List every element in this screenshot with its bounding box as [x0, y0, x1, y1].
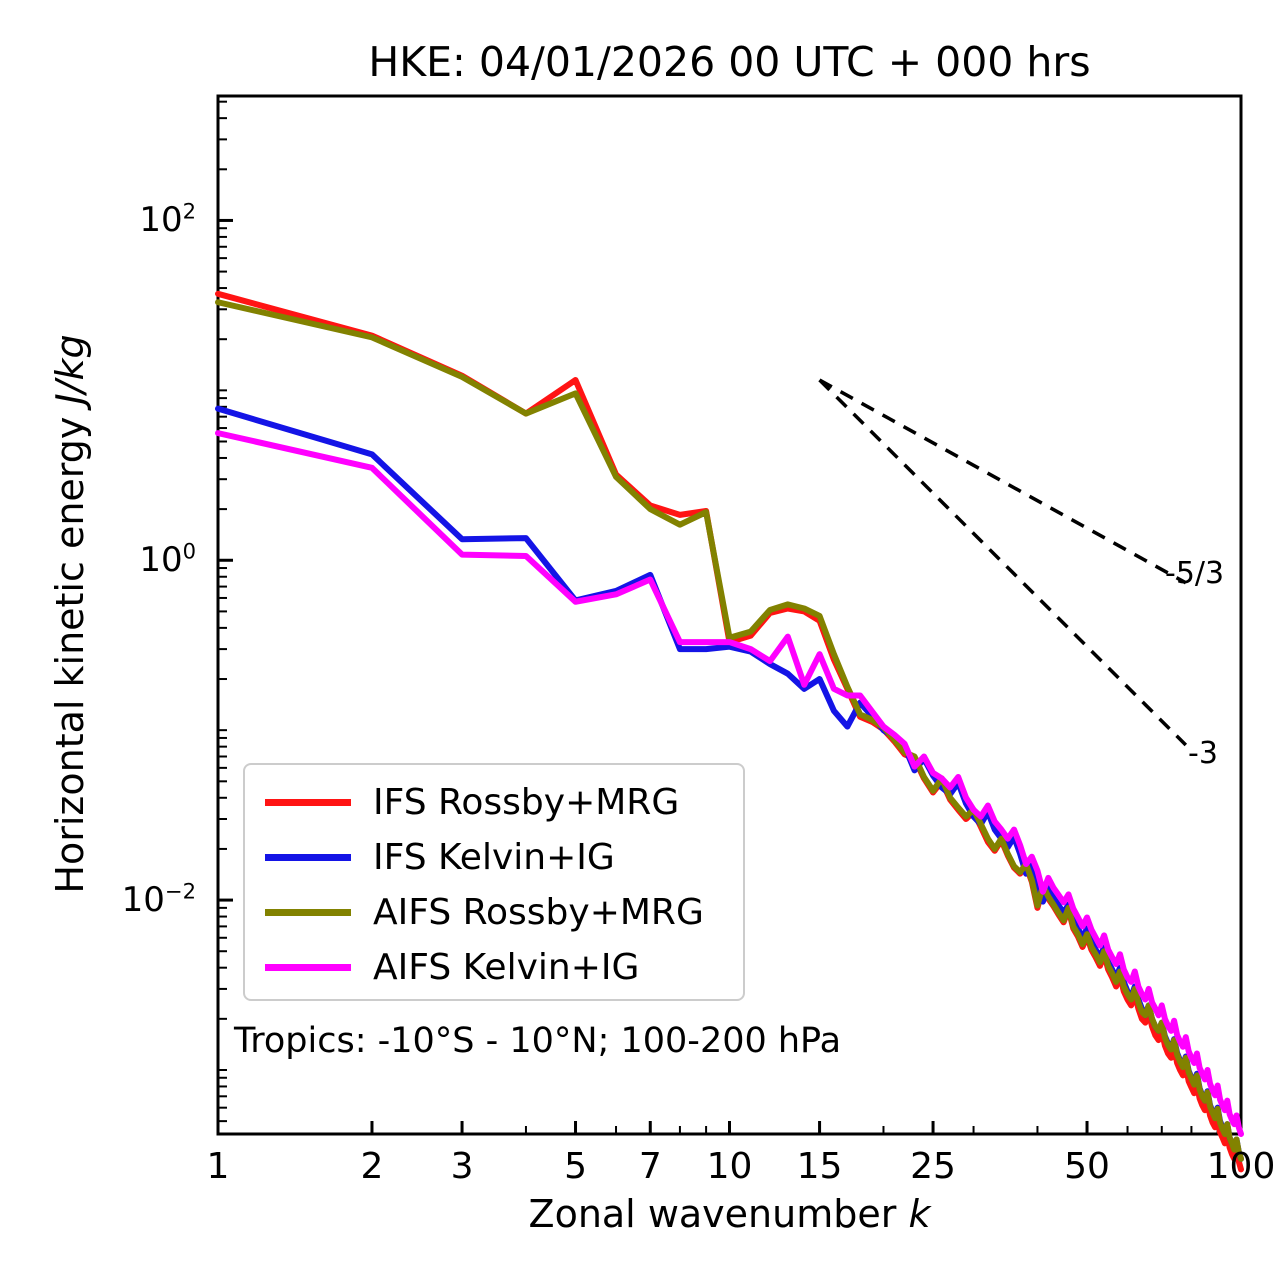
x-tick-label-7: 7 [639, 1146, 662, 1187]
x-tick-label-50: 50 [1064, 1146, 1110, 1187]
legend-item-aifs-kelvin-ig[interactable]: AIFS Kelvin+IG [245, 940, 743, 995]
legend-item-label: AIFS Rossby+MRG [373, 892, 704, 933]
y-tick-label-10e0: 100 [139, 540, 196, 580]
figure-container: HKE: 04/01/2026 00 UTC + 000 hrs 1235710… [0, 0, 1280, 1288]
y-tick-mantissa: 10 [139, 200, 182, 240]
y-tick-label-10e-2: 10−2 [122, 880, 196, 920]
x-tick-label-2: 2 [361, 1146, 384, 1187]
legend-item-label: AIFS Kelvin+IG [373, 947, 639, 988]
x-tick-label-5: 5 [564, 1146, 587, 1187]
x-tick-label-10: 10 [707, 1146, 753, 1187]
legend: IFS Rossby+MRGIFS Kelvin+IGAIFS Rossby+M… [243, 763, 745, 1001]
y-tick-exponent: 2 [183, 199, 196, 224]
legend-swatch-line-icon [265, 799, 351, 806]
legend-item-label: IFS Rossby+MRG [373, 782, 679, 823]
legend-item-label: IFS Kelvin+IG [373, 837, 615, 878]
y-tick-mantissa: 10 [122, 880, 165, 920]
x-tick-label-100: 100 [1207, 1146, 1276, 1187]
legend-swatch-line-icon [265, 964, 351, 971]
legend-item-aifs-rossby-mrg[interactable]: AIFS Rossby+MRG [245, 885, 743, 940]
x-axis-title-text: Zonal wavenumber [529, 1192, 909, 1236]
x-tick-label-1: 1 [207, 1146, 230, 1187]
legend-item-ifs-rossby-mrg[interactable]: IFS Rossby+MRG [245, 775, 743, 830]
slope-label-minus-three: -3 [1188, 736, 1218, 771]
reference-slope-lines [820, 380, 1186, 745]
x-tick-label-15: 15 [797, 1146, 843, 1187]
legend-swatch-line-icon [265, 854, 351, 861]
x-tick-label-25: 25 [910, 1146, 956, 1187]
y-axis-title-symbol: J/kg [48, 334, 92, 404]
x-axis-title: Zonal wavenumber k [218, 1192, 1241, 1236]
chart-canvas [0, 0, 1280, 1288]
legend-swatch-line-icon [265, 909, 351, 916]
y-tick-exponent: 0 [183, 539, 196, 564]
x-axis-title-symbol: k [908, 1192, 930, 1236]
x-tick-label-3: 3 [451, 1146, 474, 1187]
y-axis-title: Horizontal kinetic energy J/kg [48, 94, 92, 1134]
y-tick-mantissa: 10 [139, 540, 182, 580]
legend-item-ifs-kelvin-ig[interactable]: IFS Kelvin+IG [245, 830, 743, 885]
region-annotation: Tropics: -10°S - 10°N; 100-200 hPa [234, 1021, 841, 1061]
slope-label-five-thirds: -5/3 [1165, 556, 1224, 591]
y-axis-title-text: Horizontal kinetic energy [48, 405, 92, 894]
y-tick-label-10e2: 102 [139, 200, 196, 240]
y-tick-exponent: −2 [165, 879, 196, 904]
